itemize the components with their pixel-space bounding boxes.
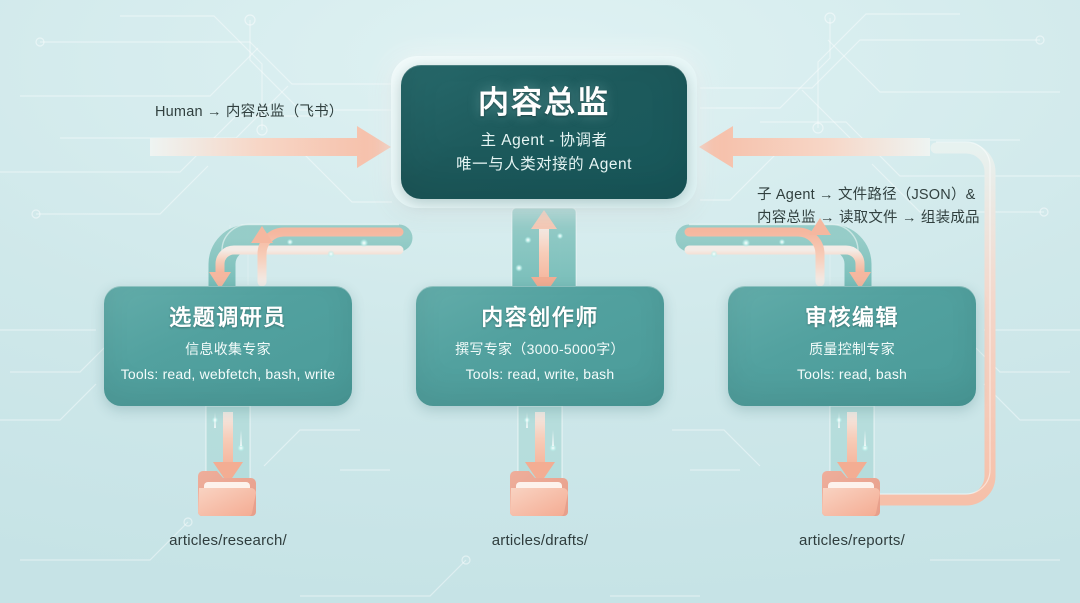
diagram-canvas: 内容总监 主 Agent - 协调者 唯一与人类对接的 Agent 选题调研员 … xyxy=(0,0,1080,603)
folder-icon xyxy=(819,468,885,520)
main-node-subtitle-2: 唯一与人类对接的 Agent xyxy=(456,153,632,177)
folder-group-research[interactable]: articles/research/ xyxy=(152,468,304,549)
arrow-left-icon xyxy=(699,126,930,168)
arrow-down-icon-research xyxy=(209,250,399,289)
node-agent-research[interactable]: 选题调研员 信息收集专家 Tools: read, webfetch, bash… xyxy=(104,286,352,406)
folder-group-reports[interactable]: articles/reports/ xyxy=(776,468,928,549)
annotation-subagent-output: 子 Agent → 文件路径（JSON）& 内容总监 → 读取文件 → 组装成品 xyxy=(757,184,980,231)
arrow-updown-icon xyxy=(531,210,557,296)
folder-label: articles/drafts/ xyxy=(492,532,589,549)
annotation-line-2: 内容总监 → 读取文件 → 组装成品 xyxy=(757,207,980,230)
annotation-line-1: 子 Agent → 文件路径（JSON）& xyxy=(757,184,980,207)
annotation-human-input: Human → 内容总监（飞书） xyxy=(155,101,344,124)
pipe-center-branch xyxy=(512,208,576,294)
agent-title: 审核编辑 xyxy=(805,307,899,329)
agent-tools: Tools: read, webfetch, bash, write xyxy=(121,364,336,385)
pipe-left-branch xyxy=(222,225,399,293)
folder-group-drafts[interactable]: articles/drafts/ xyxy=(464,468,616,549)
pipe-right-branch xyxy=(689,225,858,293)
folder-label: articles/research/ xyxy=(169,532,287,549)
folder-icon xyxy=(195,468,261,520)
agent-title: 选题调研员 xyxy=(169,307,287,329)
arrow-right-icon xyxy=(150,126,391,168)
node-agent-editor[interactable]: 审核编辑 质量控制专家 Tools: read, bash xyxy=(728,286,976,406)
agent-tools: Tools: read, write, bash xyxy=(466,364,615,385)
agent-title: 内容创作师 xyxy=(481,307,599,329)
agent-subtitle: 撰写专家（3000-5000字） xyxy=(455,339,625,360)
arrow-down-icon-editor xyxy=(689,250,871,289)
folder-label: articles/reports/ xyxy=(799,532,905,549)
main-node-title: 内容总监 xyxy=(478,87,610,118)
agent-subtitle: 信息收集专家 xyxy=(185,339,271,360)
agent-tools: Tools: read, bash xyxy=(797,364,907,385)
agent-subtitle: 质量控制专家 xyxy=(809,339,895,360)
node-agent-writer[interactable]: 内容创作师 撰写专家（3000-5000字） Tools: read, writ… xyxy=(416,286,664,406)
arrow-up-icon-research xyxy=(251,226,399,282)
main-node-subtitle-1: 主 Agent - 协调者 xyxy=(480,129,607,153)
folder-icon xyxy=(507,468,573,520)
node-content-director[interactable]: 内容总监 主 Agent - 协调者 唯一与人类对接的 Agent xyxy=(401,65,687,199)
